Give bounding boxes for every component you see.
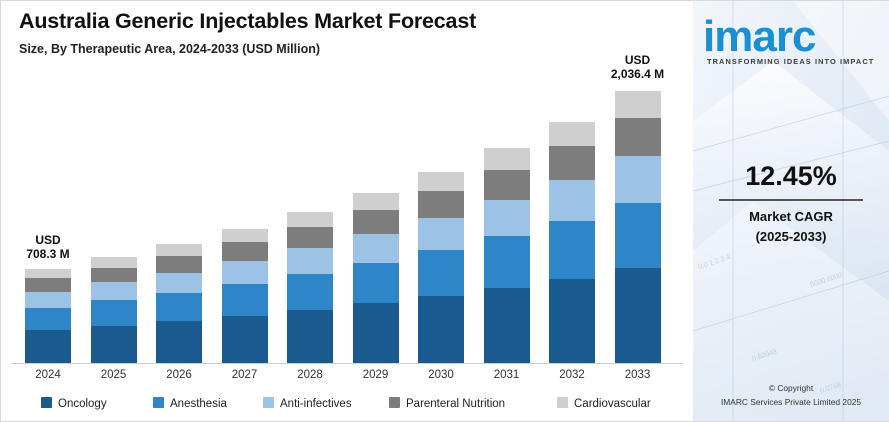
legend-item[interactable]: Oncology [41, 397, 107, 410]
start-annotation-line2: 708.3 M [26, 247, 69, 261]
bar-segment-oncology [418, 296, 464, 363]
copyright-line1: © Copyright [693, 383, 889, 393]
bar-segment-cardiovascular [549, 122, 595, 146]
bar-segment-anti-infectives [615, 156, 661, 202]
bar-group [484, 148, 530, 363]
bar-segment-anti-infectives [156, 273, 202, 293]
legend-swatch-icon [41, 397, 52, 408]
bar-segment-cardiovascular [156, 244, 202, 256]
bar-segment-parenteral-nutrition [222, 242, 268, 261]
end-annotation-line1: USD [625, 53, 650, 67]
bar-segment-cardiovascular [222, 229, 268, 242]
legend-label: Anti-infectives [280, 398, 352, 410]
bar-segment-cardiovascular [25, 269, 71, 278]
bar-segment-oncology [484, 288, 530, 363]
bar-segment-anti-infectives [484, 200, 530, 237]
bar-segment-parenteral-nutrition [549, 146, 595, 180]
bar-segment-anti-infectives [549, 180, 595, 221]
bar-group [91, 257, 137, 363]
bar-segment-cardiovascular [91, 257, 137, 268]
bar-segment-cardiovascular [287, 212, 333, 227]
bar-segment-anesthesia [484, 236, 530, 288]
x-axis-tick-label: 2030 [418, 369, 464, 381]
bar-segment-parenteral-nutrition [615, 118, 661, 156]
bar-segment-oncology [91, 326, 137, 363]
legend-label: Oncology [58, 398, 107, 410]
end-value-annotation: USD 2,036.4 M [588, 53, 688, 81]
bar-group [549, 122, 595, 363]
legend-item[interactable]: Parenteral Nutrition [389, 397, 505, 410]
end-annotation-line2: 2,036.4 M [611, 67, 664, 81]
copyright-line2: IMARC Services Private Limited 2025 [693, 397, 889, 407]
bar-segment-parenteral-nutrition [484, 170, 530, 200]
legend-item[interactable]: Anesthesia [153, 397, 227, 410]
legend-swatch-icon [389, 397, 400, 408]
cagr-label-line1: Market CAGR [693, 209, 889, 224]
bar-segment-anesthesia [25, 308, 71, 331]
bar-segment-anesthesia [156, 293, 202, 322]
bar-series-container [1, 63, 693, 363]
page-subtitle: Size, By Therapeutic Area, 2024-2033 (US… [19, 42, 679, 56]
bar-segment-anesthesia [287, 274, 333, 310]
bar-segment-cardiovascular [418, 172, 464, 191]
chart-legend: OncologyAnesthesiaAnti-infectivesParente… [1, 397, 693, 419]
start-annotation-line1: USD [35, 233, 60, 247]
legend-label: Anesthesia [170, 398, 227, 410]
x-axis-tick-label: 2031 [484, 369, 530, 381]
start-value-annotation: USD 708.3 M [3, 233, 93, 261]
bar-group [25, 269, 71, 363]
cagr-divider [719, 199, 863, 201]
x-axis-line [11, 363, 683, 364]
bar-segment-anesthesia [353, 263, 399, 304]
cagr-value: 12.45% [693, 161, 889, 192]
bar-segment-oncology [222, 316, 268, 363]
bar-segment-cardiovascular [353, 193, 399, 210]
bar-segment-anesthesia [222, 284, 268, 316]
legend-label: Parenteral Nutrition [406, 398, 505, 410]
x-axis-tick-label: 2025 [91, 369, 137, 381]
legend-item[interactable]: Anti-infectives [263, 397, 352, 410]
bar-segment-anti-infectives [91, 282, 137, 300]
plot-area [1, 63, 693, 363]
legend-swatch-icon [153, 397, 164, 408]
bar-group [418, 172, 464, 363]
x-axis-tick-label: 2033 [615, 369, 661, 381]
bar-segment-parenteral-nutrition [353, 210, 399, 234]
bar-segment-oncology [25, 330, 71, 363]
x-axis-tick-label: 2028 [287, 369, 333, 381]
bar-segment-parenteral-nutrition [287, 227, 333, 248]
x-axis-tick-label: 2032 [549, 369, 595, 381]
logo-wordmark: imarc [703, 15, 881, 59]
bar-group [615, 91, 661, 363]
bar-segment-oncology [156, 321, 202, 363]
bar-segment-anesthesia [549, 221, 595, 279]
chart-card: Australia Generic Injectables Market For… [0, 0, 889, 422]
bar-group [353, 193, 399, 363]
bar-segment-oncology [353, 303, 399, 363]
x-axis-tick-label: 2024 [25, 369, 71, 381]
x-axis-labels: 2024202520262027202820292030203120322033 [1, 369, 693, 389]
bar-group [222, 229, 268, 363]
bar-segment-anti-infectives [287, 248, 333, 274]
bar-segment-anesthesia [615, 203, 661, 268]
cagr-label-line2: (2025-2033) [693, 229, 889, 244]
bar-segment-cardiovascular [484, 148, 530, 170]
bar-segment-anti-infectives [418, 218, 464, 250]
legend-swatch-icon [263, 397, 274, 408]
bar-segment-oncology [287, 310, 333, 363]
bar-segment-parenteral-nutrition [91, 268, 137, 283]
bar-segment-anti-infectives [25, 292, 71, 308]
x-axis-tick-label: 2027 [222, 369, 268, 381]
bar-segment-oncology [549, 279, 595, 363]
legend-item[interactable]: Cardiovascular [557, 397, 651, 410]
bar-segment-parenteral-nutrition [156, 256, 202, 273]
bar-segment-anti-infectives [353, 234, 399, 263]
bar-group [287, 212, 333, 363]
chart-panel: Australia Generic Injectables Market For… [1, 1, 693, 421]
bar-segment-anesthesia [418, 250, 464, 296]
bar-group [156, 244, 202, 363]
bar-segment-parenteral-nutrition [418, 191, 464, 218]
logo-tagline: TRANSFORMING IDEAS INTO IMPACT [707, 57, 887, 66]
bar-segment-cardiovascular [615, 91, 661, 118]
bar-segment-anesthesia [91, 300, 137, 325]
bar-segment-oncology [615, 268, 661, 363]
x-axis-tick-label: 2029 [353, 369, 399, 381]
bar-segment-anti-infectives [222, 261, 268, 284]
legend-label: Cardiovascular [574, 398, 651, 410]
brand-panel: 0.0 1 2 3 4 5000 6000 0.62048 0.0768 ima… [693, 1, 889, 421]
page-title: Australia Generic Injectables Market For… [19, 9, 679, 34]
legend-swatch-icon [557, 397, 568, 408]
x-axis-tick-label: 2026 [156, 369, 202, 381]
bar-segment-parenteral-nutrition [25, 278, 71, 291]
